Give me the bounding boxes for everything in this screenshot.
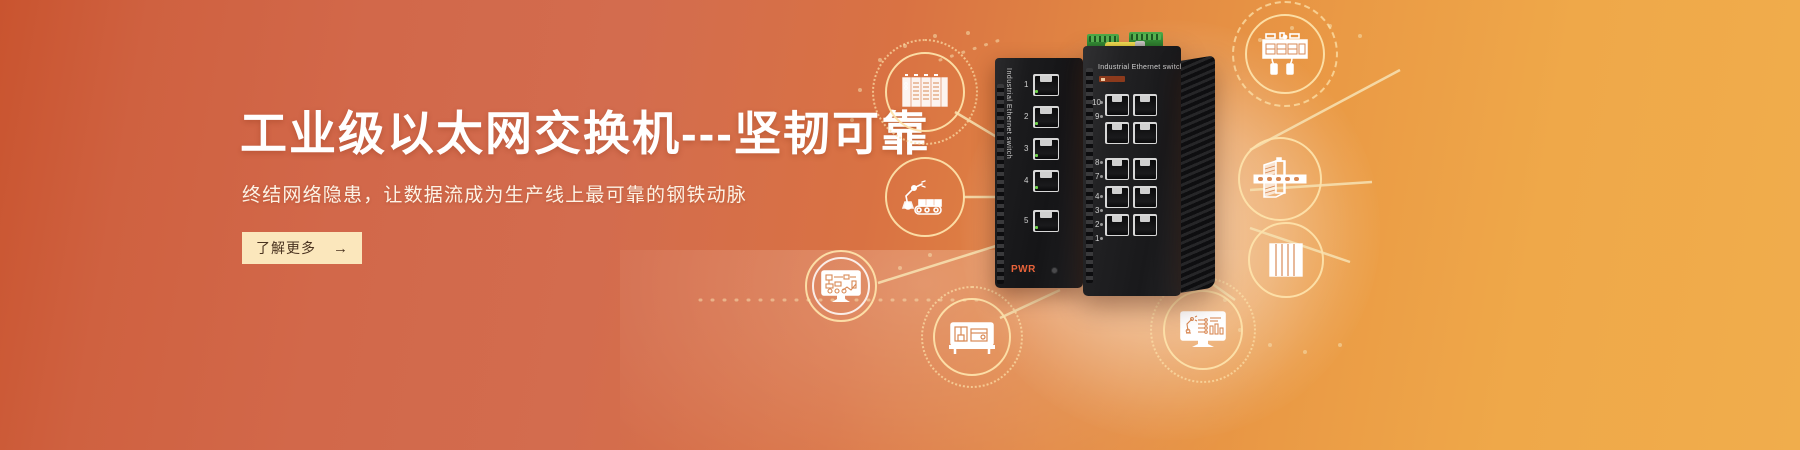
port-2-number: 2 <box>1095 220 1099 229</box>
port-5-number: 5 <box>1024 216 1028 225</box>
led-dot-b <box>1100 115 1103 118</box>
hmi-monitor-inner-ring <box>812 257 870 315</box>
hero-banner: 工业级以太网交换机---坚韧可靠 终结网络隐患，让数据流成为生产线上最可靠的钢铁… <box>0 0 1800 450</box>
heatsink-fins <box>1181 55 1215 292</box>
led-dot-f <box>1100 209 1103 212</box>
unit-b-top-label: Industrial Ethernet switch <box>1098 64 1184 71</box>
port-9 <box>1133 94 1157 116</box>
unit-a-side-label: Industrial Ethernet switch <box>1005 68 1012 159</box>
status-band <box>1099 76 1125 82</box>
port-3-led <box>1035 154 1038 157</box>
port-4-number: 4 <box>1095 192 1099 201</box>
port-1-led <box>1035 90 1038 93</box>
port-9-number: 9 <box>1095 112 1099 121</box>
control-cabinet-dash-ring <box>1232 1 1338 107</box>
led-dot-c <box>1100 161 1103 164</box>
port-8-number: 8 <box>1095 158 1099 167</box>
led-dot-e <box>1100 195 1103 198</box>
port-1-number: 1 <box>1024 80 1028 89</box>
robotic-arm-conveyor-icon <box>885 157 965 237</box>
banner-headline: 工业级以太网交换机---坚韧可靠 <box>240 95 930 164</box>
port-7-number: 7 <box>1095 172 1099 181</box>
port-b-4 <box>1105 186 1129 208</box>
port-7 <box>1133 122 1157 144</box>
port-b-1 <box>1133 214 1157 236</box>
port-b-2 <box>1105 214 1129 236</box>
led-dot-h <box>1100 237 1103 240</box>
side-vent-a <box>997 84 1004 284</box>
din-rail-module-icon <box>1238 137 1322 221</box>
switch-unit-b: Industrial Ethernet switch 10 9 8 7 4 3 … <box>1083 46 1181 296</box>
port-8 <box>1105 122 1129 144</box>
banner-content: 工业级以太网交换机---坚韧可靠 终结网络隐患，让数据流成为生产线上最可靠的钢铁… <box>240 0 960 450</box>
port-2-led <box>1035 122 1038 125</box>
plc-rack-dot-ring <box>872 39 978 145</box>
port-2-number: 2 <box>1024 112 1028 121</box>
industrial-ethernet-switch: Industrial Ethernet switch 1 2 3 4 5 PWR… <box>995 38 1215 308</box>
port-b-3 <box>1133 186 1157 208</box>
port-3-number: 3 <box>1095 206 1099 215</box>
led-dot-d <box>1100 175 1103 178</box>
port-4-led <box>1035 186 1038 189</box>
switch-unit-a: Industrial Ethernet switch 1 2 3 4 5 PWR <box>995 58 1083 288</box>
led-dot-a <box>1100 101 1103 104</box>
learn-more-button[interactable]: 了解更多 → <box>242 232 362 264</box>
port-3-number: 3 <box>1024 144 1028 153</box>
banner-subheadline: 终结网络隐患，让数据流成为生产线上最可靠的钢铁动脉 <box>242 180 747 207</box>
port-4-number: 4 <box>1024 176 1028 185</box>
port-10 <box>1105 94 1129 116</box>
pwr-indicator <box>1051 267 1058 274</box>
pwr-label: PWR <box>1009 264 1038 275</box>
port-5-led <box>1035 226 1038 229</box>
server-stack-icon <box>1248 222 1324 298</box>
port-6 <box>1105 158 1129 180</box>
led-dot-g <box>1100 223 1103 226</box>
port-1-number-b: 1 <box>1095 234 1099 243</box>
port-b-5 <box>1133 158 1157 180</box>
learn-more-label: 了解更多 <box>256 238 316 258</box>
arrow-right-icon: → <box>333 241 348 256</box>
